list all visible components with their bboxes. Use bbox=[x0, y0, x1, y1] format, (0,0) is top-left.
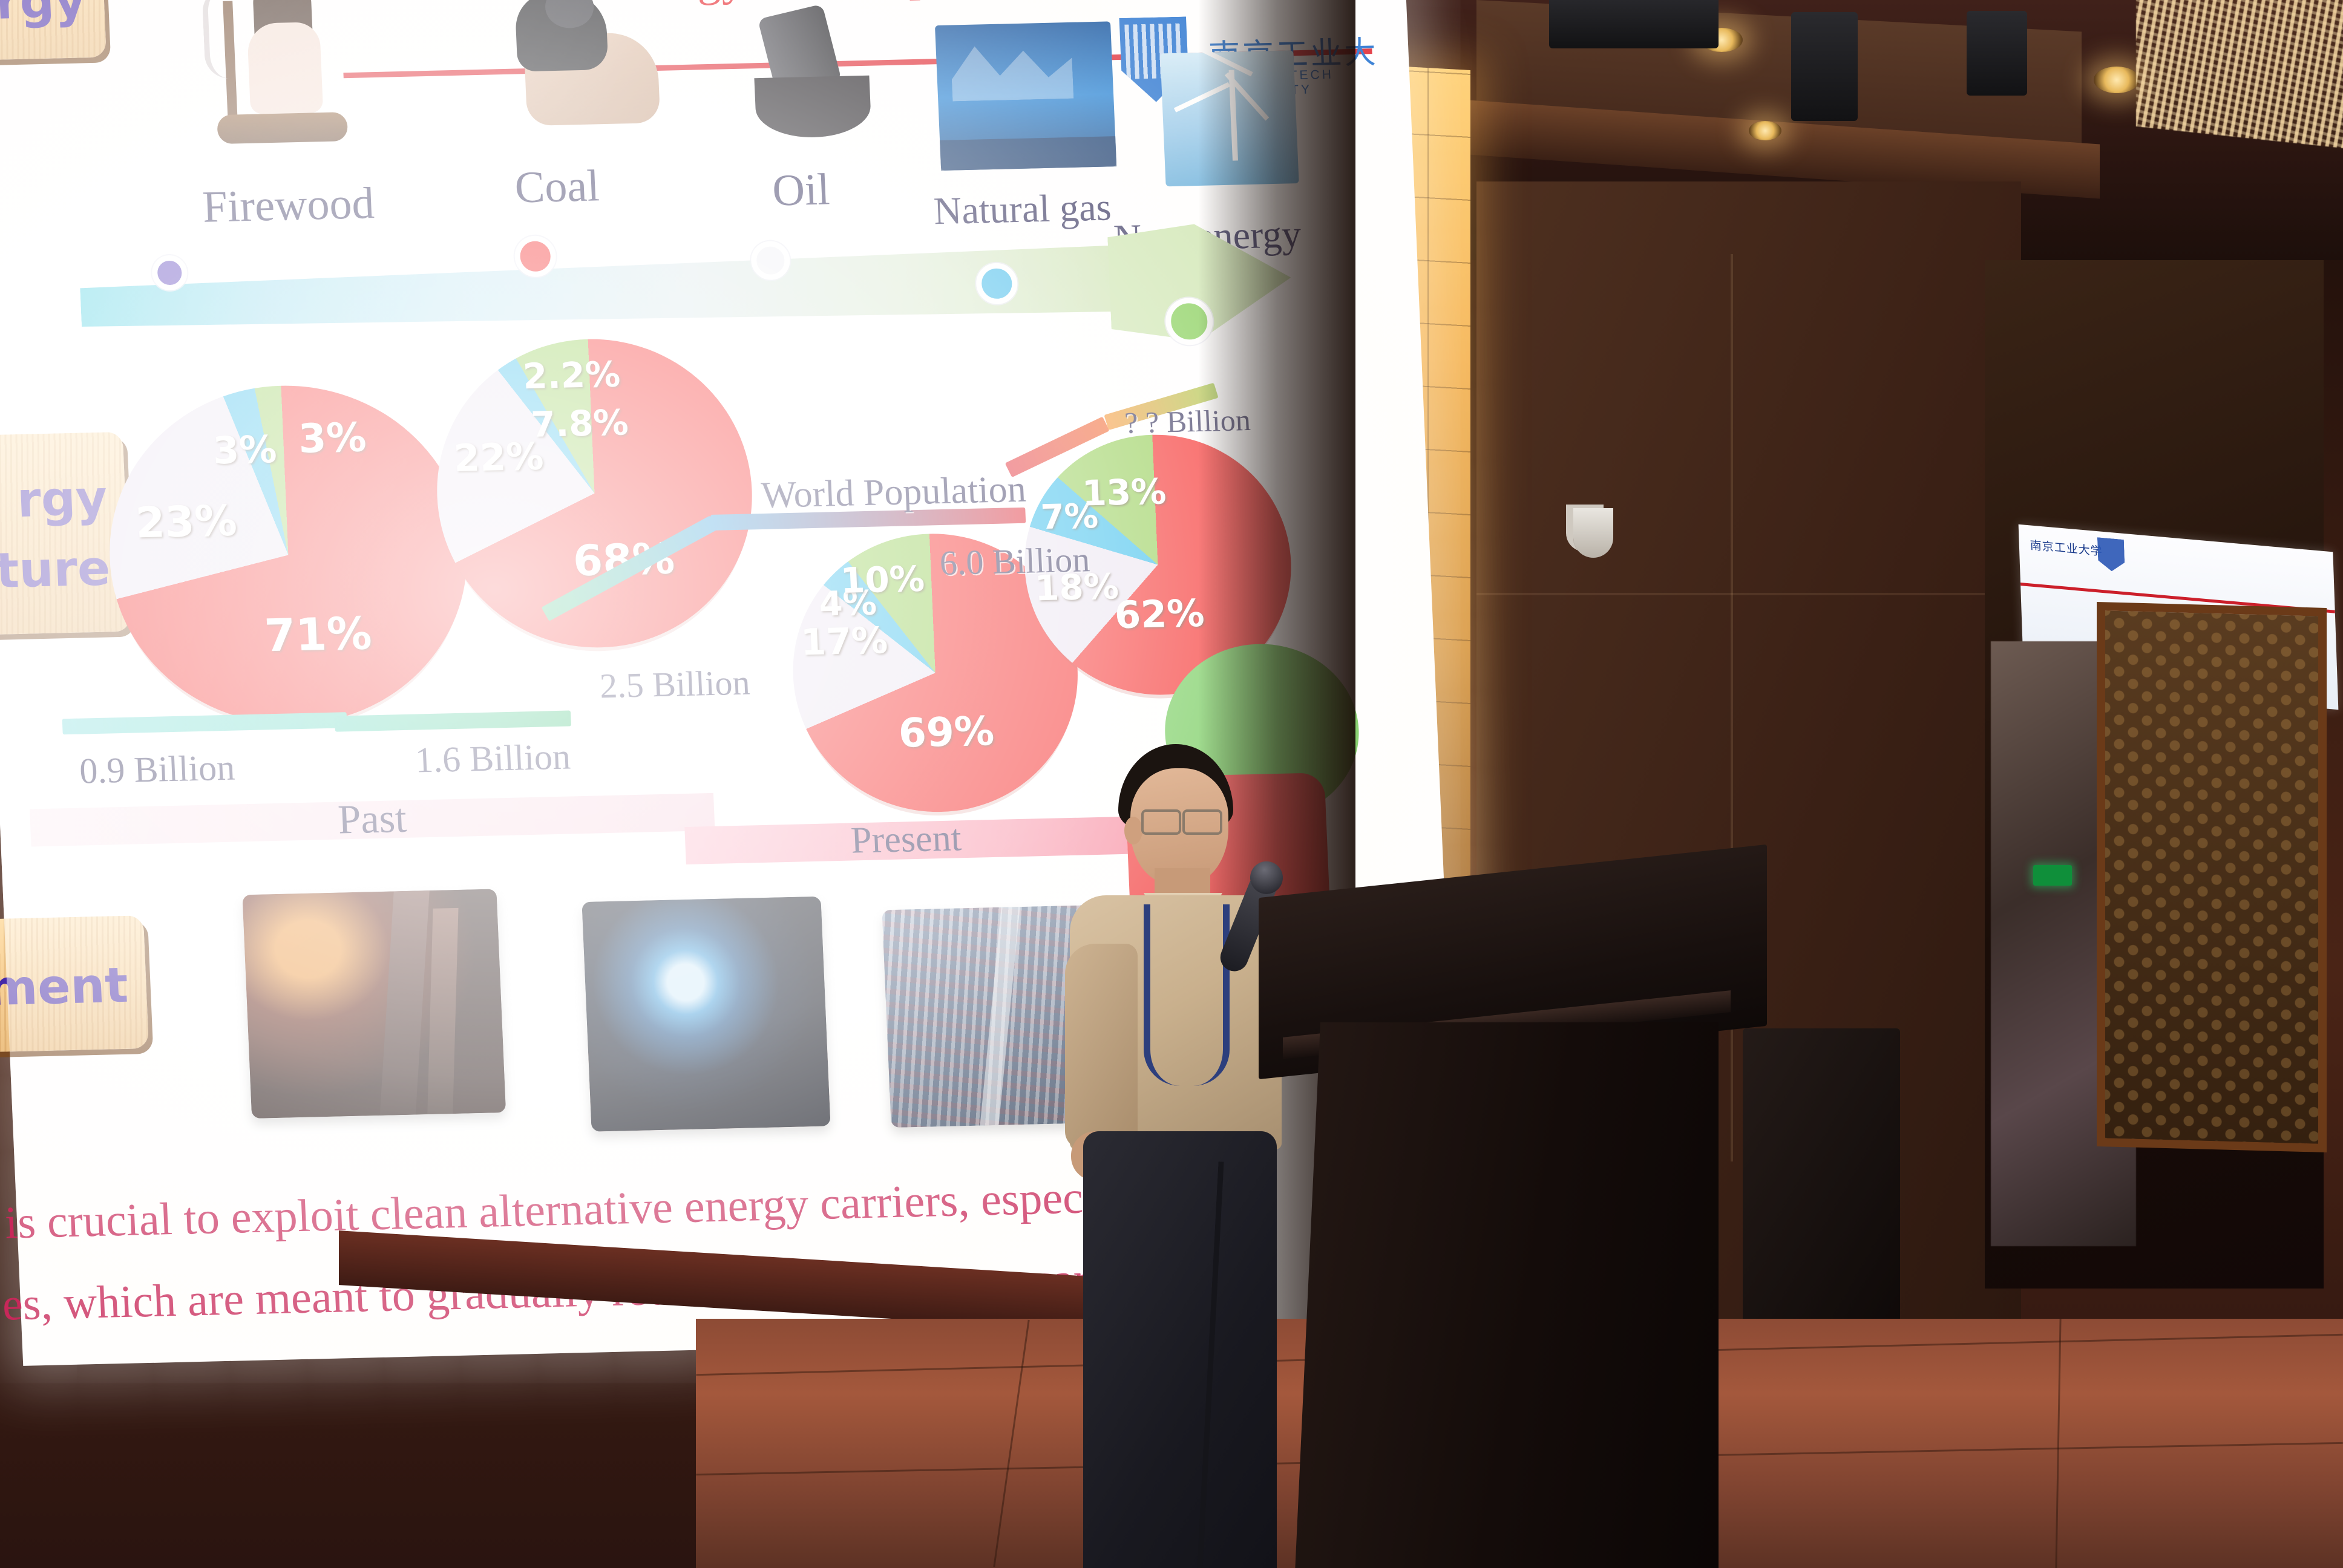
population-label-3: 6.0 Billion bbox=[939, 539, 1091, 583]
presenter-trousers bbox=[1083, 1131, 1277, 1568]
sidebar-tab-environment[interactable]: nment bbox=[0, 915, 149, 1054]
floor-seam bbox=[993, 1320, 1029, 1567]
security-camera-icon bbox=[1573, 508, 1613, 558]
podium-body bbox=[1295, 1022, 1719, 1568]
banner-chinese-text: 南京工业大学 bbox=[2030, 536, 2103, 559]
population-chart-title: World Population bbox=[760, 468, 1027, 517]
population-label-0: 0.9 Billion bbox=[79, 747, 236, 792]
population-label-2: 2.5 Billion bbox=[599, 662, 751, 707]
wall-panel-seam bbox=[1476, 593, 2021, 595]
presenter-lanyard bbox=[1144, 904, 1230, 1086]
presenter-arm bbox=[1065, 944, 1138, 1149]
stage-light-fixture bbox=[1967, 11, 2027, 96]
banner-shield-icon bbox=[2097, 537, 2125, 572]
paragraph-line-1: is crucial to exploit clean alternative … bbox=[4, 1171, 1130, 1250]
eyeglasses-icon bbox=[1141, 809, 1181, 835]
podium bbox=[1259, 871, 1767, 1568]
population-segment-1 bbox=[62, 712, 347, 734]
floor-seam bbox=[2055, 1319, 2061, 1568]
exit-sign bbox=[2033, 865, 2072, 886]
presenter-ear bbox=[1124, 817, 1142, 844]
ceiling-rail bbox=[1549, 0, 1719, 48]
decorative-honeycomb-panel bbox=[2097, 602, 2327, 1152]
burning-earth-photo bbox=[582, 897, 830, 1132]
population-label-1: 1.6 Billion bbox=[415, 736, 572, 782]
timeline-bar-present-label: Present bbox=[850, 817, 963, 862]
population-segment-2 bbox=[335, 710, 571, 731]
sidebar-tab-environment-label: nment bbox=[0, 957, 129, 1018]
screenshot-root: 南京工业大学 gy consumption 南京工业大学 NANJING TEC… bbox=[0, 0, 2343, 1568]
ceiling-spotlight bbox=[2094, 67, 2140, 93]
timeline-bar-past-label: Past bbox=[337, 794, 408, 844]
ceiling-spotlight bbox=[1749, 121, 1781, 140]
population-segment-3 bbox=[542, 515, 718, 621]
stage-light-fixture bbox=[1791, 12, 1858, 121]
chandelier bbox=[2136, 0, 2343, 152]
eyeglasses-icon bbox=[1182, 809, 1222, 835]
smokestack-pollution-photo bbox=[242, 889, 506, 1119]
